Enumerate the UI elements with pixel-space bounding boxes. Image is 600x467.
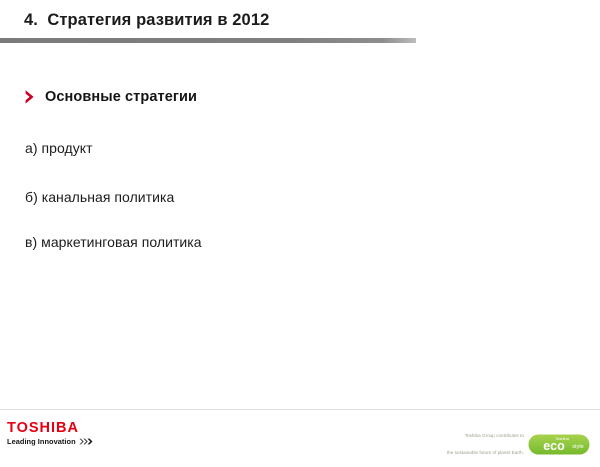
eco-badge-icon: Toshiba eco style xyxy=(528,434,590,455)
toshiba-tagline: Leading Innovation xyxy=(7,437,76,446)
slide-body: Основные стратегии а) продукт б) канальн… xyxy=(24,86,544,108)
list-item: б) канальная политика xyxy=(25,189,174,205)
eco-claim-line-1: Toshiba Group contributes to xyxy=(447,433,524,439)
slide-canvas: 4. Стратегия развития в 2012 Основные ст… xyxy=(0,0,600,450)
eco-style-logo: Toshiba Group contributes to the sustain… xyxy=(447,422,590,467)
toshiba-logo: TOSHIBA Leading Innovation xyxy=(7,421,94,446)
toshiba-tagline-row: Leading Innovation xyxy=(7,437,94,446)
title-divider-bar xyxy=(0,38,416,43)
list-item: в) маркетинговая политика xyxy=(25,234,202,250)
section-heading: Основные стратегии xyxy=(45,89,197,105)
eco-claim-text: Toshiba Group contributes to the sustain… xyxy=(447,422,524,467)
toshiba-wordmark: TOSHIBA xyxy=(7,421,94,436)
list-item: а) продукт xyxy=(25,140,93,156)
slide-footer: TOSHIBA Leading Innovation Toshiba Group… xyxy=(0,410,600,450)
svg-text:style: style xyxy=(572,444,584,450)
page-title: 4. Стратегия развития в 2012 xyxy=(24,11,269,30)
eco-claim-line-2: the sustainable future of planet Earth. xyxy=(447,450,524,456)
chevron-right-icon xyxy=(24,89,36,105)
svg-text:eco: eco xyxy=(543,439,565,453)
bullet-heading-row: Основные стратегии xyxy=(24,86,544,108)
triple-chevron-icon xyxy=(79,438,94,445)
